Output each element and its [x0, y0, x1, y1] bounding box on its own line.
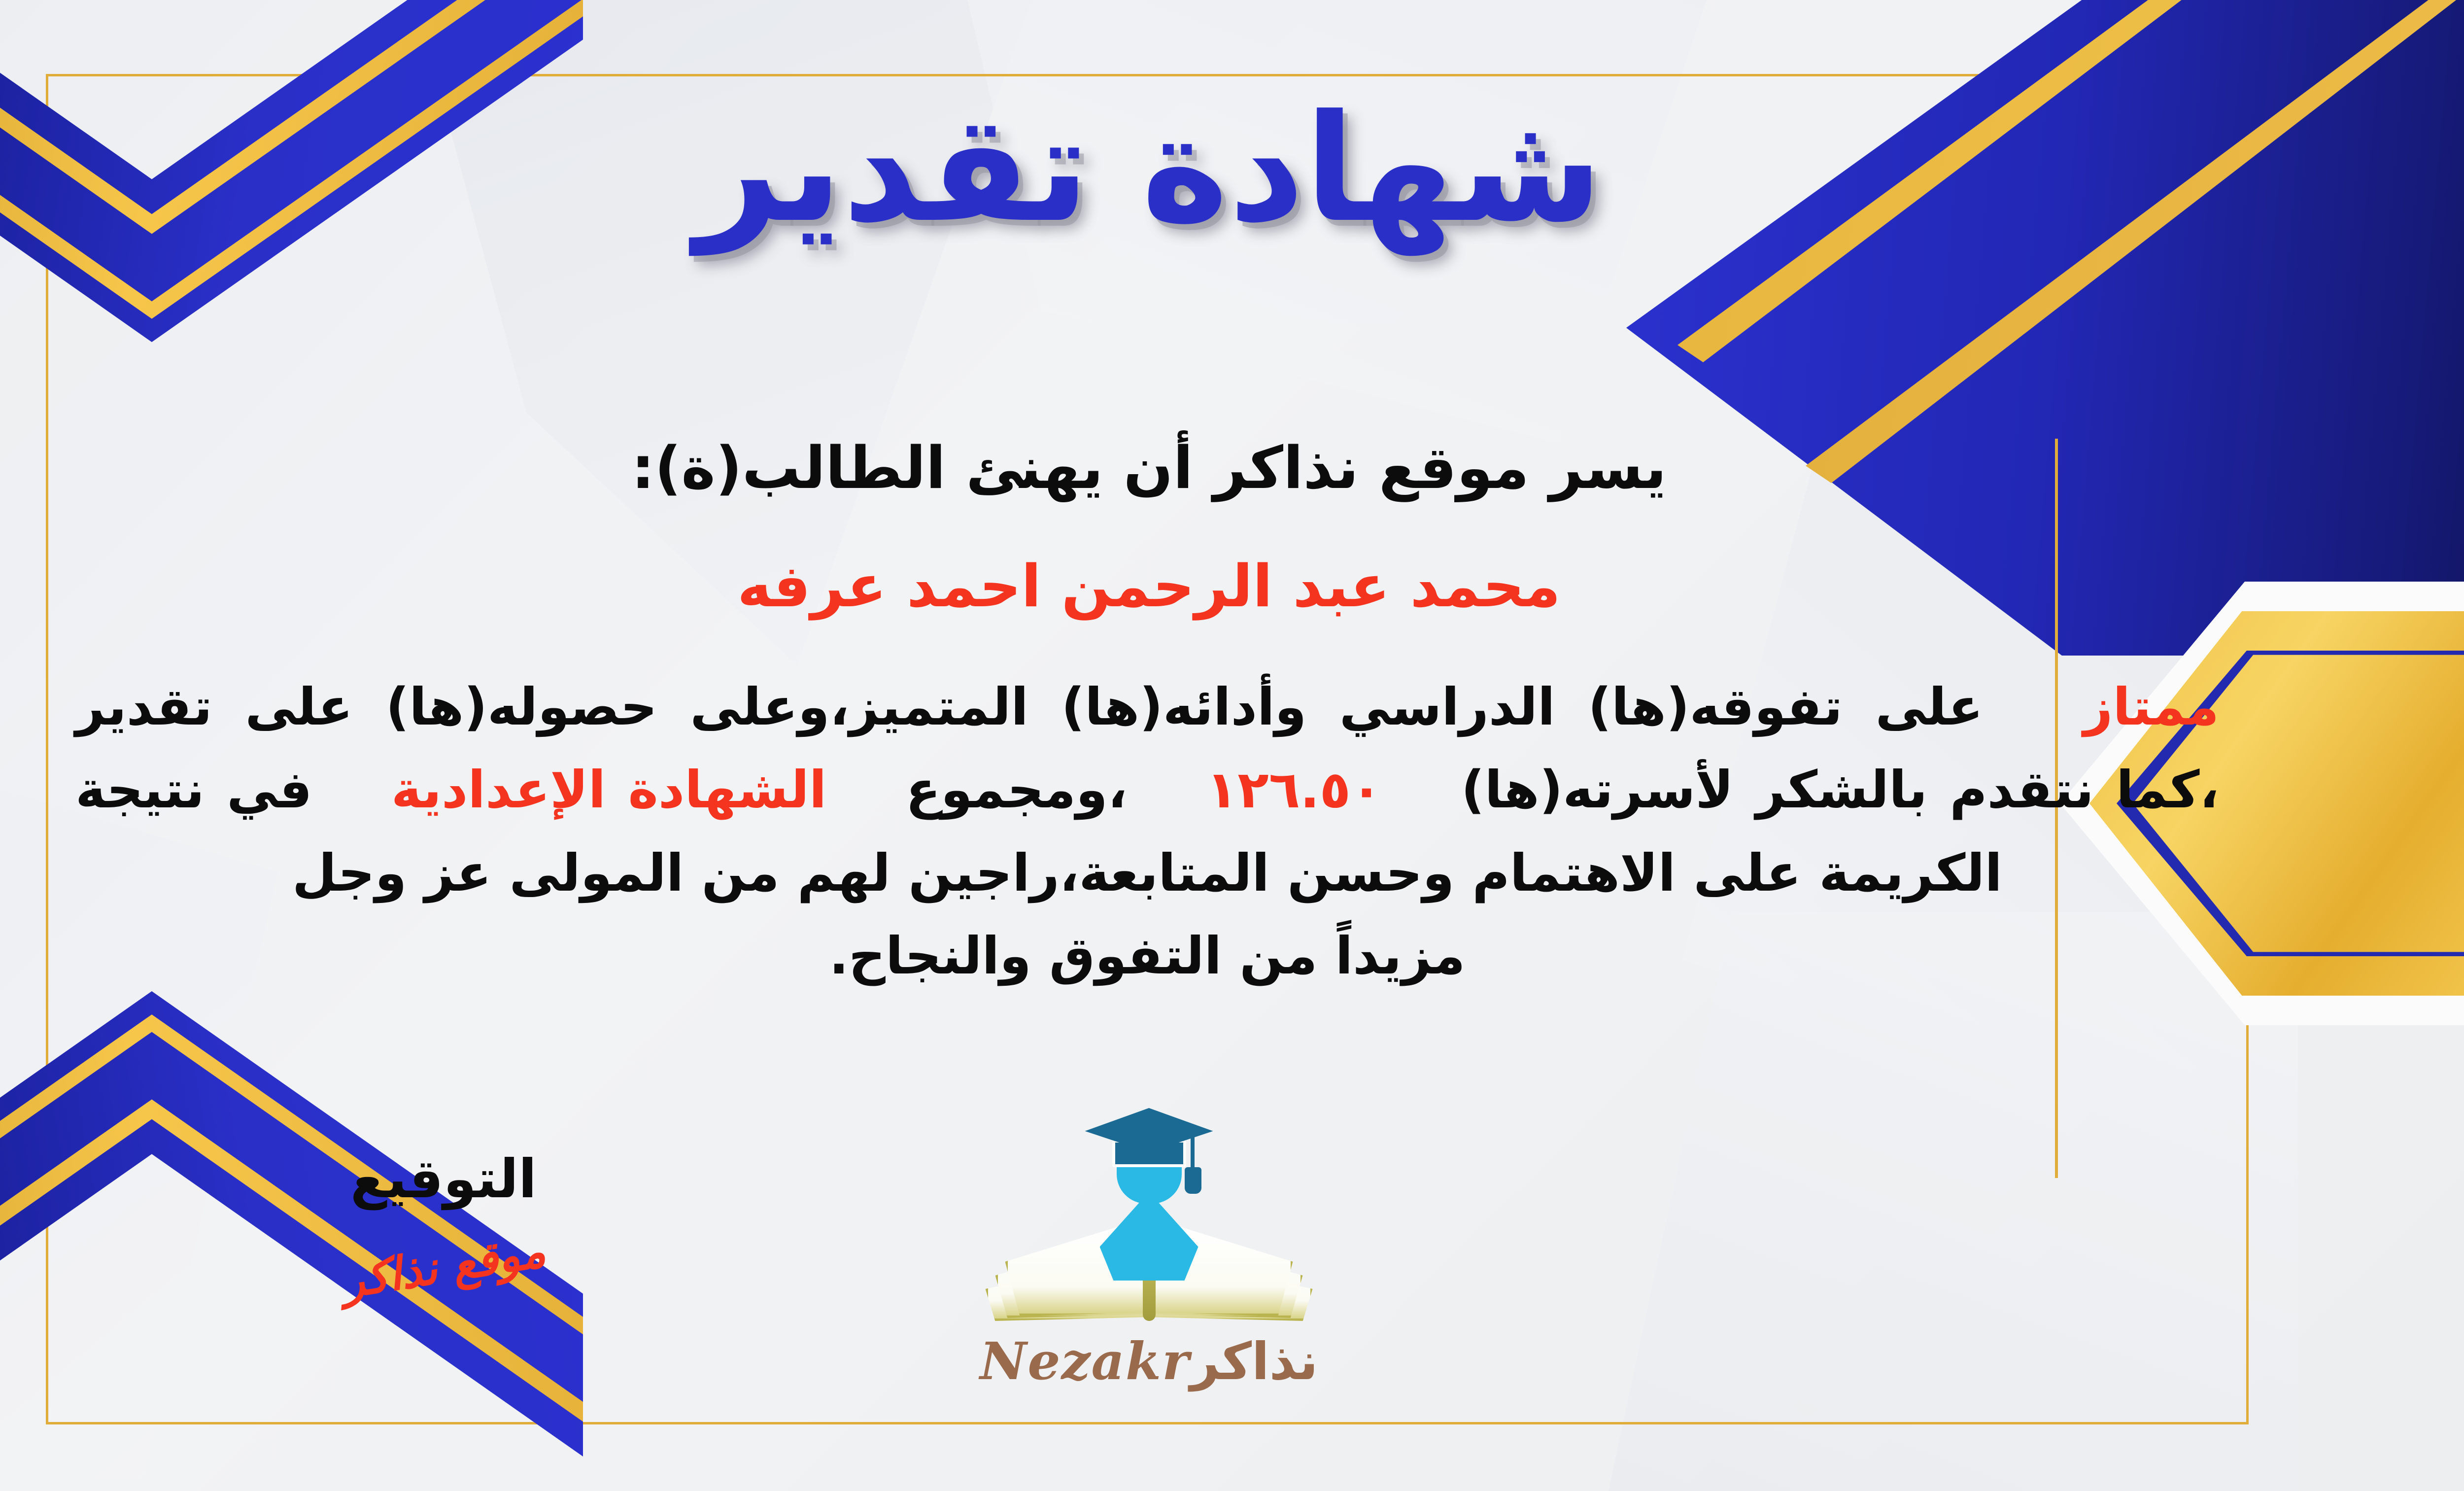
body-line-2-mid: ،ومجموع: [906, 760, 1127, 820]
body-line-1-text: على تفوقه(ها) الدراسي وأدائه(ها) المتميز…: [75, 677, 1983, 737]
greeting-line: يسر موقع نذاكر أن يهنئ الطالب(ة):: [0, 434, 2464, 502]
brand-wordmark-arabic: نذاكر: [1190, 1331, 1318, 1391]
body-line-2-head: في نتيجة: [75, 760, 312, 820]
body-line-1: ممتاز على تفوقه(ها) الدراسي وأدائه(ها) ا…: [46, 665, 2249, 748]
certificate-canvas: شهادة تقدير يسر موقع نذاكر أن يهنئ الطال…: [0, 0, 2464, 1491]
body-line-3: الكريمة على الاهتمام وحسن المتابعة،راجين…: [46, 832, 2249, 914]
certificate-content: شهادة تقدير يسر موقع نذاكر أن يهنئ الطال…: [0, 0, 2464, 1491]
brand-logo: نذاكرNezakr: [947, 1129, 1351, 1391]
signature-block: التوقيع موقع نذاكر: [222, 1148, 665, 1293]
total-score-value: ١٢٦.٥٠: [1206, 760, 1382, 820]
grade-value: ممتاز: [2084, 677, 2220, 737]
graduation-cap-tassel-icon: [1185, 1167, 1201, 1194]
signature-mark: موقع نذاكر: [338, 1224, 549, 1309]
brand-wordmark-latin: Nezakr: [980, 1331, 1190, 1391]
certificate-title: شهادة تقدير: [0, 84, 2464, 254]
exam-name-value: الشهادة الإعدادية: [391, 760, 827, 820]
student-name: محمد عبد الرحمن احمد عرفه: [0, 552, 2464, 620]
signature-label: التوقيع: [222, 1148, 665, 1210]
body-line-2-tail: ،كما نتقدم بالشكر لأسرته(ها): [1461, 760, 2219, 820]
body-line-4: مزيداً من التفوق والنجاح.: [46, 914, 2249, 997]
certificate-body: ممتاز على تفوقه(ها) الدراسي وأدائه(ها) ا…: [46, 665, 2249, 998]
brand-wordmark: نذاكرNezakr: [947, 1331, 1351, 1391]
body-line-2: ،كما نتقدم بالشكر لأسرته(ها) ١٢٦.٥٠ ،ومج…: [46, 748, 2249, 831]
graduate-book-icon: [977, 1129, 1322, 1326]
